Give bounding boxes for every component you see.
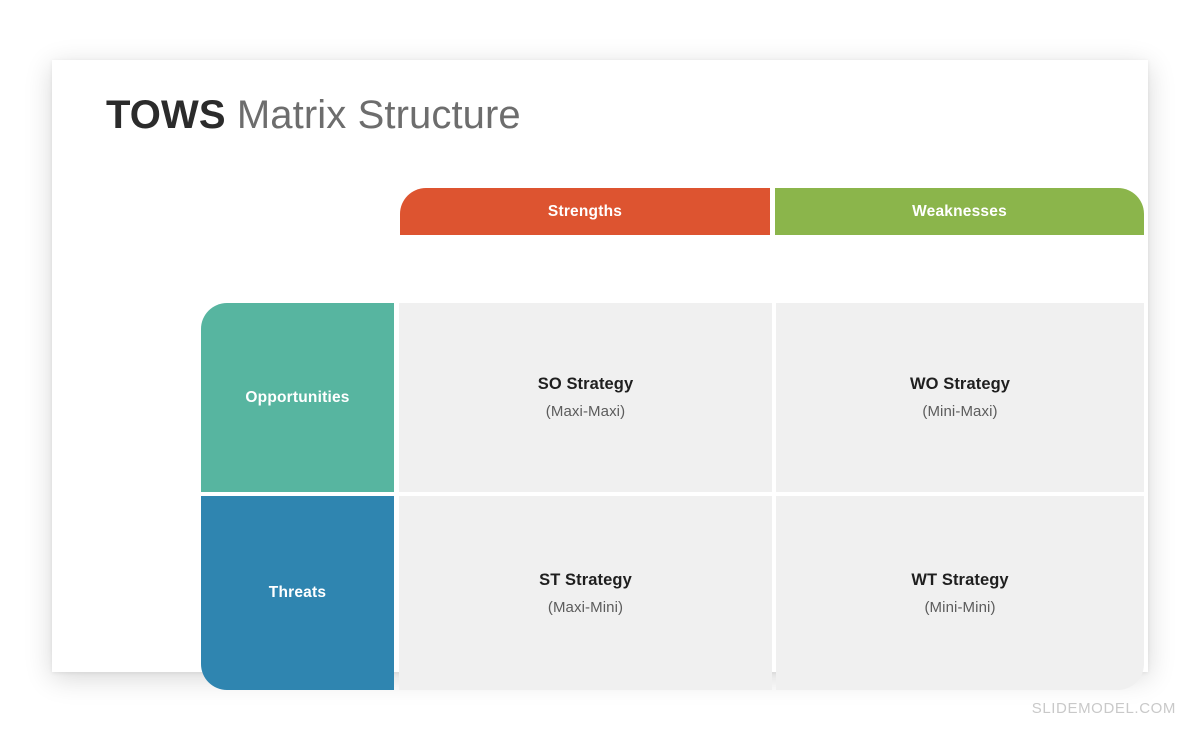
footer-watermark: SLIDEMODEL.COM xyxy=(1032,700,1176,717)
row-header-threats[interactable]: Threats xyxy=(201,496,394,690)
matrix-cell-wt-title: WT Strategy xyxy=(911,571,1008,590)
matrix-cell-wo[interactable]: WO Strategy (Mini-Maxi) xyxy=(776,303,1144,492)
matrix-cell-so-title: SO Strategy xyxy=(538,375,634,394)
tows-matrix: Strengths Weaknesses Opportunities Threa… xyxy=(149,188,1094,631)
matrix-cell-st-subtitle: (Maxi-Mini) xyxy=(548,599,623,616)
row-header-opportunities[interactable]: Opportunities xyxy=(201,303,394,492)
page-title-strong: TOWS xyxy=(106,93,226,137)
page-title-rest: Matrix Structure xyxy=(237,93,521,137)
slide-card: TOWS Matrix Structure Strengths Weakness… xyxy=(52,60,1148,672)
column-header-weaknesses-label: Weaknesses xyxy=(912,203,1007,221)
row-header-opportunities-label: Opportunities xyxy=(245,389,349,407)
matrix-cell-wo-title: WO Strategy xyxy=(910,375,1010,394)
matrix-cell-wt-subtitle: (Mini-Mini) xyxy=(924,599,995,616)
page-title: TOWS Matrix Structure xyxy=(106,92,521,138)
page-title-light xyxy=(226,93,237,137)
matrix-cell-so[interactable]: SO Strategy (Maxi-Maxi) xyxy=(399,303,772,492)
column-header-strengths[interactable]: Strengths xyxy=(400,188,770,235)
column-header-weaknesses[interactable]: Weaknesses xyxy=(775,188,1144,235)
matrix-cell-wt[interactable]: WT Strategy (Mini-Mini) xyxy=(776,496,1144,690)
column-header-strengths-label: Strengths xyxy=(548,203,622,221)
matrix-cell-so-subtitle: (Maxi-Maxi) xyxy=(546,403,625,420)
matrix-cell-st-title: ST Strategy xyxy=(539,571,632,590)
row-header-threats-label: Threats xyxy=(269,584,326,602)
matrix-cell-st[interactable]: ST Strategy (Maxi-Mini) xyxy=(399,496,772,690)
matrix-cell-wo-subtitle: (Mini-Maxi) xyxy=(922,403,997,420)
